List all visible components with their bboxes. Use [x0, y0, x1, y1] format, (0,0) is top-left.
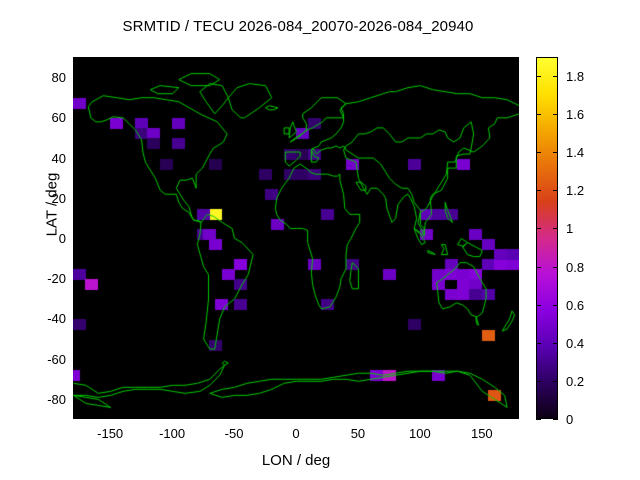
- colorbar-tick-label: 1.8: [566, 70, 584, 83]
- x-tick-label: 150: [452, 427, 512, 440]
- colorbar-tick-mark: [553, 114, 558, 115]
- x-axis-label: LON / deg: [73, 452, 519, 469]
- colorbar-tick-mark: [553, 76, 558, 77]
- y-tick-label: -60: [26, 353, 66, 366]
- colorbar-tick-label: 0.4: [566, 337, 584, 350]
- page-title: SRMTID / TECU 2026-084_20070-2026-084_20…: [0, 18, 596, 35]
- colorbar-tick-label: 1: [566, 222, 573, 235]
- colorbar-tick-label: 1.4: [566, 146, 584, 159]
- colorbar-tick-label: 1.2: [566, 184, 584, 197]
- colorbar-tick-mark: [536, 419, 541, 420]
- map-plot-area[interactable]: [73, 57, 519, 419]
- colorbar-tick-mark: [553, 343, 558, 344]
- colorbar-tick-mark: [536, 152, 541, 153]
- colorbar-tick-mark: [553, 267, 558, 268]
- heatmap-canvas: [73, 57, 519, 419]
- colorbar-tick-mark: [536, 267, 541, 268]
- colorbar-tick-mark: [536, 343, 541, 344]
- x-tick-label: -100: [142, 427, 202, 440]
- colorbar-tick-mark: [553, 305, 558, 306]
- colorbar-tick-mark: [536, 305, 541, 306]
- colorbar-tick-label: 0.8: [566, 261, 584, 274]
- y-axis-label: LAT / deg: [44, 145, 61, 265]
- colorbar-tick-mark: [536, 76, 541, 77]
- colorbar-tick-mark: [536, 190, 541, 191]
- y-tick-label: -80: [26, 393, 66, 406]
- x-tick-label: 0: [266, 427, 326, 440]
- y-tick-label: 80: [26, 71, 66, 84]
- colorbar-tick-mark: [553, 190, 558, 191]
- colorbar-tick-label: 1.6: [566, 108, 584, 121]
- colorbar-tick-mark: [553, 419, 558, 420]
- colorbar-tick-mark: [553, 152, 558, 153]
- x-tick-label: -50: [204, 427, 264, 440]
- x-axis-ticks: -150-100-50050100150: [73, 427, 519, 447]
- x-tick-label: 50: [328, 427, 388, 440]
- x-tick-label: 100: [390, 427, 450, 440]
- colorbar-ticks: 00.20.40.60.811.21.41.61.8: [536, 57, 636, 419]
- x-tick-label: -150: [80, 427, 140, 440]
- colorbar-tick-label: 0.6: [566, 299, 584, 312]
- colorbar-tick-mark: [536, 381, 541, 382]
- y-tick-label: -20: [26, 272, 66, 285]
- colorbar-tick-mark: [553, 381, 558, 382]
- colorbar-tick-mark: [553, 228, 558, 229]
- colorbar-tick-label: 0.2: [566, 375, 584, 388]
- figure-root: SRMTID / TECU 2026-084_20070-2026-084_20…: [0, 0, 640, 480]
- colorbar-tick-mark: [536, 228, 541, 229]
- colorbar-tick-mark: [536, 114, 541, 115]
- colorbar-tick-label: 0: [566, 413, 573, 426]
- y-tick-label: 60: [26, 111, 66, 124]
- y-tick-label: -40: [26, 312, 66, 325]
